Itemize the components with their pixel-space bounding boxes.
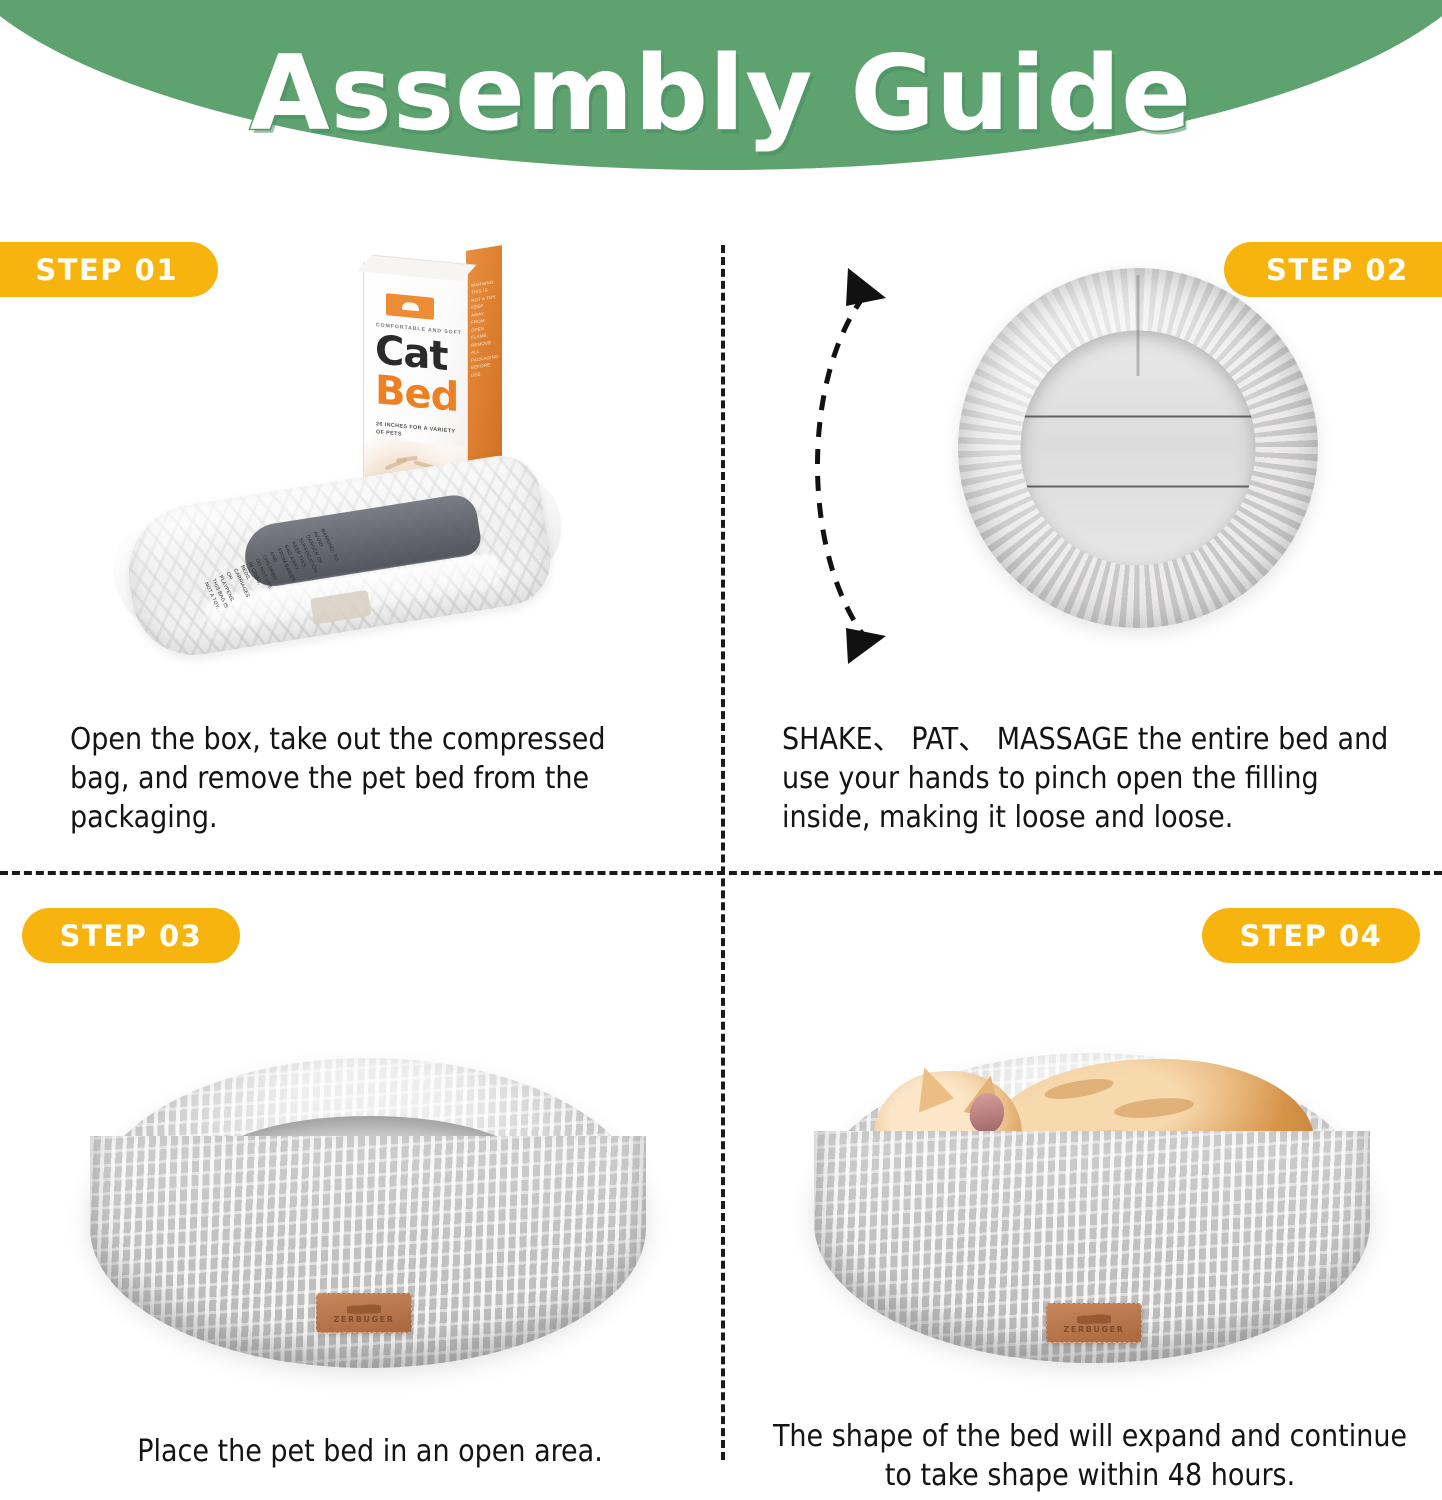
step-02-caption: SHAKE、 PAT、 MASSAGE the entire bed and u… <box>782 720 1402 837</box>
step-03-illustration: ZERBUGER <box>86 1040 656 1390</box>
step-badge-04: STEP 04 <box>1202 908 1420 963</box>
brand-leather-tag: ZERBUGER <box>1046 1303 1142 1343</box>
pet-silhouette-icon <box>1077 1312 1111 1325</box>
vertical-divider <box>721 245 725 1460</box>
assembly-guide-page: Assembly Guide STEP 01 STEP 02 STEP 03 S… <box>0 0 1442 1500</box>
brand-logo-icon <box>386 293 434 320</box>
bag-plastic-wrap: WARNING: TO AVOID DANGER OF SUFFOCATION,… <box>119 450 557 664</box>
pet-silhouette-icon <box>347 1302 381 1315</box>
brand-leather-tag: ZERBUGER <box>316 1293 412 1333</box>
pet-bed-empty: ZERBUGER <box>86 1040 656 1390</box>
product-box-side-text: WARNING: THIS IS NOT A TOY. KEEP AWAY FR… <box>471 278 497 379</box>
step-03-caption: Place the pet bed in an open area. <box>40 1432 700 1471</box>
step-badge-03: STEP 03 <box>22 908 240 963</box>
product-title-line2: Bed <box>375 372 458 417</box>
tag-brand-label: ZERBUGER <box>333 1315 394 1324</box>
step-04-illustration: ZERBUGER <box>810 1035 1385 1395</box>
cat-ear-left <box>904 1061 954 1112</box>
compressed-bag: WARNING: TO AVOID DANGER OF SUFFOCATION,… <box>115 428 560 686</box>
step-04-caption: The shape of the bed will expand and con… <box>760 1417 1420 1495</box>
horizontal-divider <box>0 871 1442 875</box>
header-banner: Assembly Guide <box>0 0 1442 230</box>
step-02-illustration <box>790 250 1410 680</box>
step-01-caption: Open the box, take out the compressed ba… <box>70 720 670 837</box>
pet-bed-with-cat: ZERBUGER <box>810 1035 1385 1395</box>
page-title: Assembly Guide <box>0 34 1442 154</box>
bed-front-bolster <box>90 1136 646 1368</box>
tag-brand-label: ZERBUGER <box>1063 1325 1124 1334</box>
double-headed-curved-dashed-arrow-icon <box>790 250 1410 680</box>
step-01-illustration: WARNING: THIS IS NOT A TOY. KEEP AWAY FR… <box>110 250 670 690</box>
